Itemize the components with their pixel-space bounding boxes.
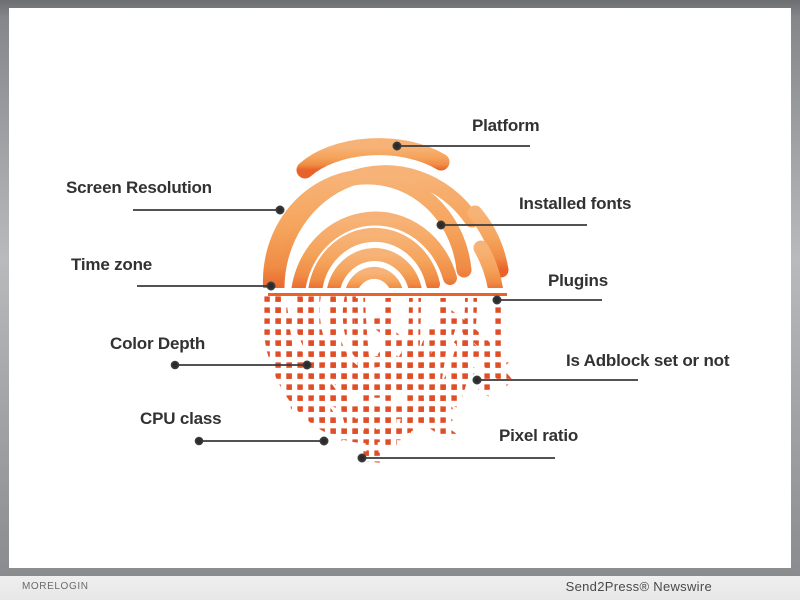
callout-label-time-zone: Time zone	[71, 255, 152, 275]
callout-label-is-adblock: Is Adblock set or not	[566, 351, 729, 371]
leader-dot-is-adblock	[473, 376, 480, 383]
callout-label-installed-fonts: Installed fonts	[519, 194, 631, 214]
callout-label-cpu-class: CPU class	[140, 409, 221, 429]
callout-label-color-depth: Color Depth	[110, 334, 205, 354]
leader-dot-color-depth-start	[172, 362, 179, 369]
callout-label-plugins: Plugins	[548, 271, 608, 291]
leader-dot-installed-fonts	[437, 221, 444, 228]
callout-label-platform: Platform	[472, 116, 539, 136]
leader-dot-plugins	[493, 296, 500, 303]
leader-dot-pixel-ratio	[358, 454, 365, 461]
footer-bar: MORELOGIN Send2Press® Newswire	[0, 576, 800, 600]
callout-label-screen-resolution: Screen Resolution	[66, 178, 212, 198]
leader-dot-color-depth-end	[303, 361, 310, 368]
leader-dot-cpu-class-end	[320, 437, 327, 444]
slide-bezel: Platform Screen Resolution Installed fon…	[0, 0, 800, 576]
leader-dot-cpu-class-start	[196, 438, 203, 445]
footer-brand-send2press: Send2Press® Newswire	[566, 579, 712, 594]
slide-canvas: Platform Screen Resolution Installed fon…	[9, 8, 791, 568]
callout-leader-lines	[9, 8, 791, 568]
leader-dot-platform	[393, 142, 400, 149]
leader-dot-screen-resolution	[276, 206, 283, 213]
leader-dot-time-zone	[267, 282, 274, 289]
footer-brand-morelogin: MORELOGIN	[22, 581, 89, 592]
callout-label-pixel-ratio: Pixel ratio	[499, 426, 578, 446]
slide-root: Platform Screen Resolution Installed fon…	[0, 0, 800, 600]
